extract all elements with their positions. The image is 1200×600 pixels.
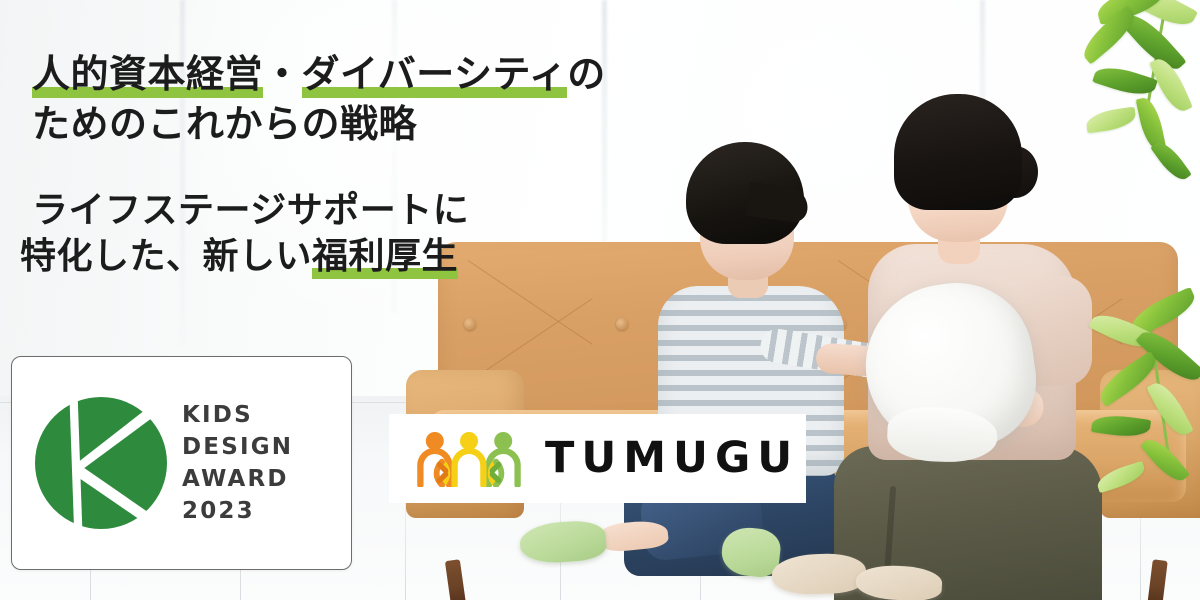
headline-highlight-welfare: 福利厚生 [312, 236, 458, 279]
headline-highlight-human-capital: 人的資本経営 [32, 52, 263, 98]
sofa-seam [468, 260, 593, 345]
headline-line-1-tail: の [567, 52, 606, 96]
headline-separator: ・ [263, 52, 302, 96]
sofa-button [464, 318, 476, 330]
promo-banner: 人的資本経営・ダイバーシティの ためのこれからの戦略 ライフステージサポートに … [0, 0, 1200, 600]
headline-highlight-diversity: ダイバーシティ [302, 52, 568, 98]
tumugu-logo-lockup: TUMUGU [389, 414, 806, 503]
mother-hair [894, 94, 1022, 210]
tumugu-three-people-mark [415, 431, 523, 487]
headline-line-1: 人的資本経営・ダイバーシティの [32, 48, 606, 100]
headline-line-4: 特化した、新しい福利厚生 [20, 232, 458, 282]
headline-line-3: ライフステージサポートに [32, 186, 469, 236]
tumugu-wordmark: TUMUGU [545, 437, 799, 480]
kda-line-year: 2023 [182, 500, 293, 523]
kids-design-award-badge: KIDS DESIGN AWARD 2023 [11, 356, 352, 570]
sofa-button [1142, 318, 1154, 330]
kda-line-award: AWARD [182, 468, 293, 491]
kids-design-award-k-mark [26, 388, 176, 538]
kda-line-kids: KIDS [182, 404, 293, 427]
headline-line-2: ためのこれからの戦略 [32, 98, 417, 150]
kids-design-award-text: KIDS DESIGN AWARD 2023 [182, 404, 293, 523]
window-mullion [602, 0, 607, 276]
headline-line-4-head: 特化した、新しい [20, 236, 312, 277]
father-hair [686, 142, 804, 244]
kda-line-design: DESIGN [182, 436, 293, 459]
